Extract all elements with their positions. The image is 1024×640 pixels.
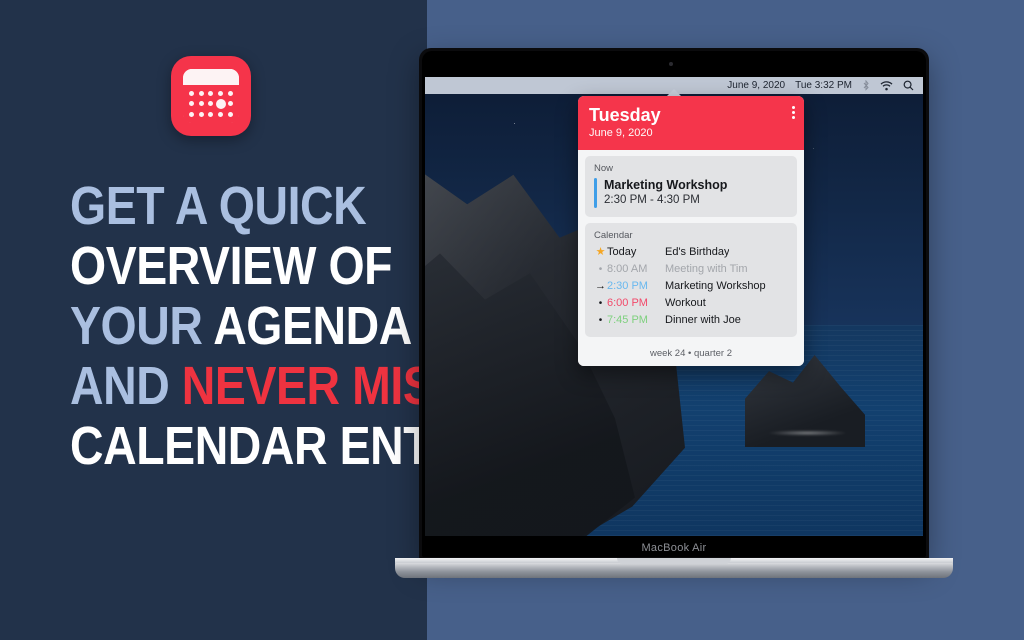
headline-line-4: AND NEVER MISS — [70, 356, 362, 416]
headline-line-3: YOUR AGENDA — [70, 296, 362, 356]
wifi-icon[interactable] — [880, 81, 893, 91]
calendar-event-row[interactable]: •8:00 AMMeeting with Tim — [594, 262, 788, 277]
laptop-base-slab — [395, 562, 953, 578]
menubar-clock[interactable]: Tue 3:32 PM — [795, 80, 852, 91]
dot-icon: • — [594, 296, 607, 311]
laptop-base — [395, 558, 953, 580]
event-time: 2:30 PM — [607, 279, 665, 294]
calendar-event-row[interactable]: •6:00 PMWorkout — [594, 296, 788, 311]
now-event-time: 2:30 PM - 4:30 PM — [604, 193, 727, 208]
webcam-icon — [669, 62, 673, 66]
dot-icon: • — [594, 262, 607, 277]
calendar-section-label: Calendar — [594, 230, 788, 241]
calendar-event-list: ★TodayEd's Birthday•8:00 AMMeeting with … — [594, 245, 788, 328]
macbook-mockup: June 9, 2020 Tue 3:32 PM — [419, 48, 929, 568]
event-time: 8:00 AM — [607, 262, 665, 277]
calendar-event-row[interactable]: ★TodayEd's Birthday — [594, 245, 788, 260]
menubar-date: June 9, 2020 — [727, 80, 785, 91]
calendar-icon-header — [183, 69, 239, 84]
widget-header: Tuesday June 9, 2020 — [578, 96, 804, 150]
laptop-model-label: MacBook Air — [419, 542, 929, 554]
widget-date-subtitle: June 9, 2020 — [589, 126, 793, 140]
event-time: 6:00 PM — [607, 296, 665, 311]
event-title: Marketing Workshop — [665, 279, 766, 294]
calendar-icon-grid — [183, 85, 239, 123]
event-time: 7:45 PM — [607, 313, 665, 328]
calendar-section: Calendar ★TodayEd's Birthday•8:00 AMMeet… — [585, 223, 797, 337]
widget-footer: week 24 • quarter 2 — [578, 343, 804, 366]
headline-line-2: OVERVIEW OF — [70, 236, 362, 296]
now-section-label: Now — [594, 163, 788, 174]
headline-line-5: CALENDAR ENTRYS — [70, 416, 362, 476]
laptop-lid: June 9, 2020 Tue 3:32 PM — [419, 48, 929, 560]
now-event[interactable]: Marketing Workshop 2:30 PM - 4:30 PM — [594, 178, 788, 208]
event-title: Ed's Birthday — [665, 245, 729, 260]
wallpaper-foam — [750, 429, 865, 437]
event-time: Today — [607, 245, 665, 260]
search-icon[interactable] — [903, 80, 914, 91]
event-accent-bar — [594, 178, 597, 208]
calendar-event-row[interactable]: •7:45 PMDinner with Joe — [594, 313, 788, 328]
calendar-event-row[interactable]: →2:30 PMMarketing Workshop — [594, 279, 788, 294]
bluetooth-icon[interactable] — [862, 80, 870, 91]
calendar-app-icon — [171, 56, 251, 136]
laptop-screen: June 9, 2020 Tue 3:32 PM — [425, 77, 923, 536]
calendar-widget: Tuesday June 9, 2020 Now Marketing Works… — [578, 96, 804, 366]
promo-column: GET A QUICK OVERVIEW OF YOUR AGENDA AND … — [0, 0, 427, 640]
widget-day-title: Tuesday — [589, 105, 793, 125]
now-event-title: Marketing Workshop — [604, 178, 727, 193]
event-title: Workout — [665, 296, 706, 311]
kebab-menu-icon[interactable] — [792, 106, 795, 119]
now-section: Now Marketing Workshop 2:30 PM - 4:30 PM — [585, 156, 797, 217]
event-title: Meeting with Tim — [665, 262, 748, 277]
headline: GET A QUICK OVERVIEW OF YOUR AGENDA AND … — [70, 176, 362, 476]
event-title: Dinner with Joe — [665, 313, 741, 328]
laptop-base-notch — [617, 558, 731, 564]
dot-icon: • — [594, 313, 607, 328]
promo-banner: GET A QUICK OVERVIEW OF YOUR AGENDA AND … — [0, 0, 1024, 640]
star-icon: ★ — [594, 245, 607, 260]
headline-line-1: GET A QUICK — [70, 176, 362, 236]
arrow-icon: → — [594, 279, 607, 294]
